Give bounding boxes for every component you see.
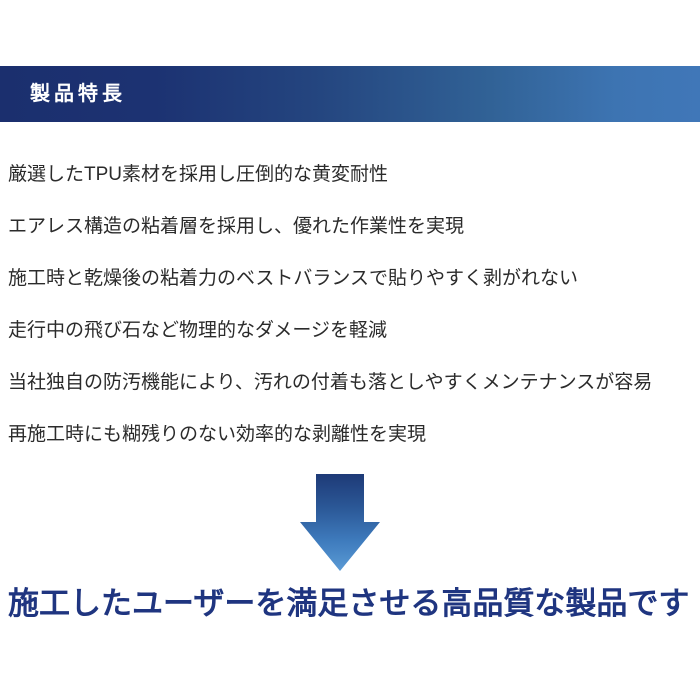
feature-item: 施工時と乾燥後の粘着力のベストバランスで貼りやすく剥がれない <box>8 252 700 304</box>
feature-item: 再施工時にも糊残りのない効率的な剥離性を実現 <box>8 408 700 460</box>
closing-headline: 施工したユーザーを満足させる高品質な製品です <box>8 583 700 625</box>
section-title: 製品特長 <box>30 84 126 104</box>
feature-item: 走行中の飛び石など物理的なダメージを軽減 <box>8 304 700 356</box>
product-features-page: 製品特長 厳選したTPU素材を採用し圧倒的な黄変耐性 エアレス構造の粘着層を採用… <box>0 0 700 700</box>
arrow-down-icon <box>300 474 380 571</box>
section-header-banner: 製品特長 <box>0 66 700 122</box>
feature-list: 厳選したTPU素材を採用し圧倒的な黄変耐性 エアレス構造の粘着層を採用し、優れた… <box>8 148 700 460</box>
feature-item: 厳選したTPU素材を採用し圧倒的な黄変耐性 <box>8 148 700 200</box>
feature-item: 当社独自の防汚機能により、汚れの付着も落としやすくメンテナンスが容易 <box>8 356 700 408</box>
feature-item: エアレス構造の粘着層を採用し、優れた作業性を実現 <box>8 200 700 252</box>
